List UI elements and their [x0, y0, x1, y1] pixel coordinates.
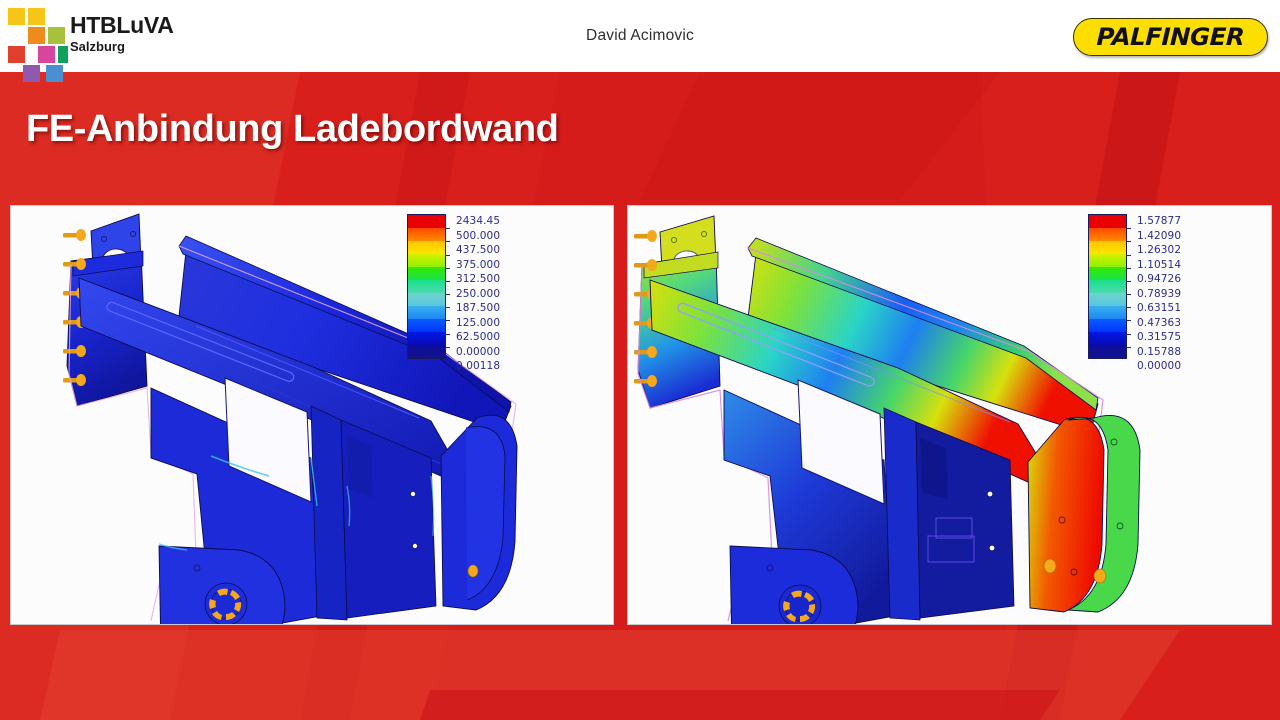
legend-value: 187.500: [456, 301, 500, 316]
legend-value: 1.26302: [1137, 243, 1181, 258]
legend-value: 1.10514: [1137, 258, 1181, 273]
legend-value: 125.000: [456, 316, 500, 331]
logo-square-red: [8, 46, 25, 63]
legend-value: 0.00118: [456, 359, 500, 374]
legend-value: 0.15788: [1137, 345, 1181, 360]
logo-square-green: [58, 46, 68, 63]
stress-legend-bar: [407, 214, 446, 359]
legend-value: 500.000: [456, 229, 500, 244]
logo-square-blue: [46, 65, 63, 82]
logo-square-purple: [23, 65, 40, 82]
legend-value: 1.57877: [1137, 214, 1181, 229]
legend-value: 250.000: [456, 287, 500, 302]
logo-square-yellow-2: [28, 8, 45, 25]
logo-square-pink: [38, 46, 55, 63]
legend-value: 1.42090: [1137, 229, 1181, 244]
fe-stress-model: [11, 206, 614, 625]
legend-value: 0.94726: [1137, 272, 1181, 287]
legend-value: 375.000: [456, 258, 500, 273]
palfinger-logo: PALFINGER: [1073, 18, 1268, 56]
fe-displacement-plot-panel: 1.57877 1.42090 1.26302 1.10514 0.94726 …: [627, 205, 1272, 625]
legend-value: 0.00000: [1137, 359, 1181, 374]
stress-color-legend: 2434.45 500.000 437.500 375.000 312.500 …: [407, 214, 500, 374]
legend-value: 312.500: [456, 272, 500, 287]
page-title: FE-Anbindung Ladebordwand: [26, 108, 558, 151]
displacement-legend-labels: 1.57877 1.42090 1.26302 1.10514 0.94726 …: [1137, 214, 1181, 374]
legend-value: 0.63151: [1137, 301, 1181, 316]
fe-stress-plot-panel: 2434.45 500.000 437.500 375.000 312.500 …: [10, 205, 614, 625]
displacement-legend-bar: [1088, 214, 1127, 359]
legend-value: 2434.45: [456, 214, 500, 229]
legend-value: 0.47363: [1137, 316, 1181, 331]
legend-value: 437.500: [456, 243, 500, 258]
palfinger-logo-text: PALFINGER: [1096, 23, 1245, 51]
legend-value: 62.5000: [456, 330, 500, 345]
logo-square-yellow-1: [8, 8, 25, 25]
legend-value: 0.00000: [456, 345, 500, 360]
legend-value: 0.78939: [1137, 287, 1181, 302]
slide: HTBLuVA Salzburg David Acimovic PALFINGE…: [0, 0, 1280, 720]
stress-legend-labels: 2434.45 500.000 437.500 375.000 312.500 …: [456, 214, 500, 374]
legend-value: 0.31575: [1137, 330, 1181, 345]
displacement-color-legend: 1.57877 1.42090 1.26302 1.10514 0.94726 …: [1088, 214, 1181, 374]
slide-header: HTBLuVA Salzburg David Acimovic PALFINGE…: [0, 0, 1280, 72]
